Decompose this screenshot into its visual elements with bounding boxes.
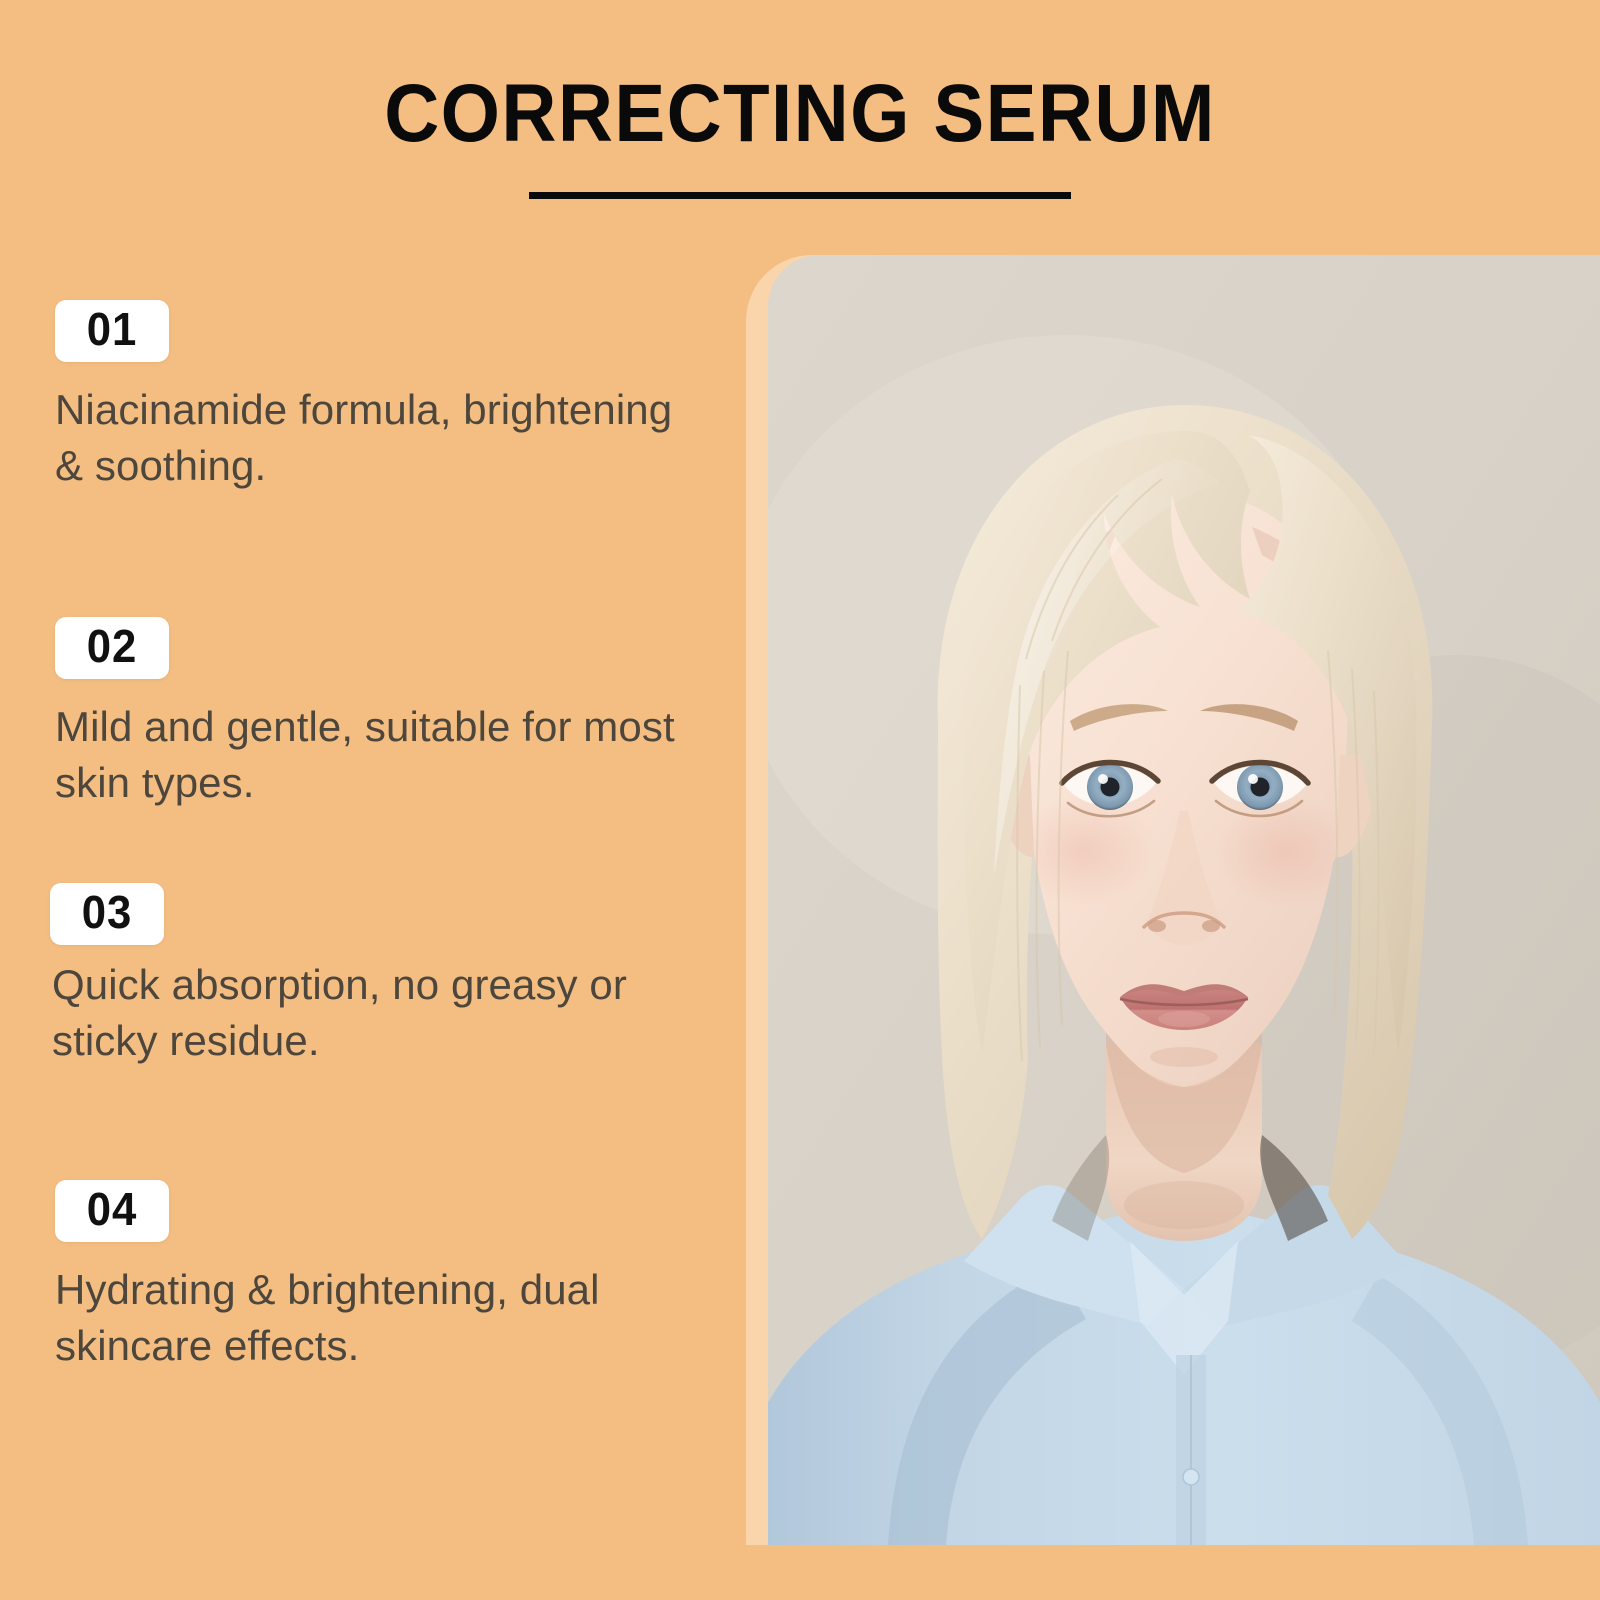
eye-left xyxy=(1062,762,1158,816)
badge-number: 02 xyxy=(71,622,153,672)
status-badge: 03 xyxy=(50,883,164,945)
feature-description: Mild and gentle, suitable for most skin … xyxy=(0,699,700,812)
badge-number: 03 xyxy=(66,888,148,938)
feature-description: Quick absorption, no greasy or sticky re… xyxy=(0,957,700,1070)
shirt-button xyxy=(1183,1469,1199,1485)
badge-number: 04 xyxy=(71,1185,153,1235)
status-badge: 01 xyxy=(55,300,169,362)
list-item: 02 Mild and gentle, suitable for most sk… xyxy=(0,617,700,811)
portrait-illustration xyxy=(768,255,1600,1545)
status-badge: 04 xyxy=(55,1180,169,1242)
feature-description: Hydrating & brightening, dual skincare e… xyxy=(0,1262,700,1375)
list-item: 03 Quick absorption, no greasy or sticky… xyxy=(0,883,700,1069)
status-badge: 02 xyxy=(55,617,169,679)
badge-number: 01 xyxy=(71,305,153,355)
title-underline-rule xyxy=(529,192,1071,199)
feature-description: Niacinamide formula, brightening & sooth… xyxy=(0,382,700,495)
poster-root: CORRECTING SERUM 01 Niacinamide formula,… xyxy=(0,0,1600,1600)
product-model-photo xyxy=(768,255,1600,1545)
list-item: 04 Hydrating & brightening, dual skincar… xyxy=(0,1180,700,1374)
list-item: 01 Niacinamide formula, brightening & so… xyxy=(0,300,700,494)
eye-right xyxy=(1212,762,1308,816)
title-block: CORRECTING SERUM xyxy=(0,72,1600,199)
page-title: CORRECTING SERUM xyxy=(56,72,1544,156)
